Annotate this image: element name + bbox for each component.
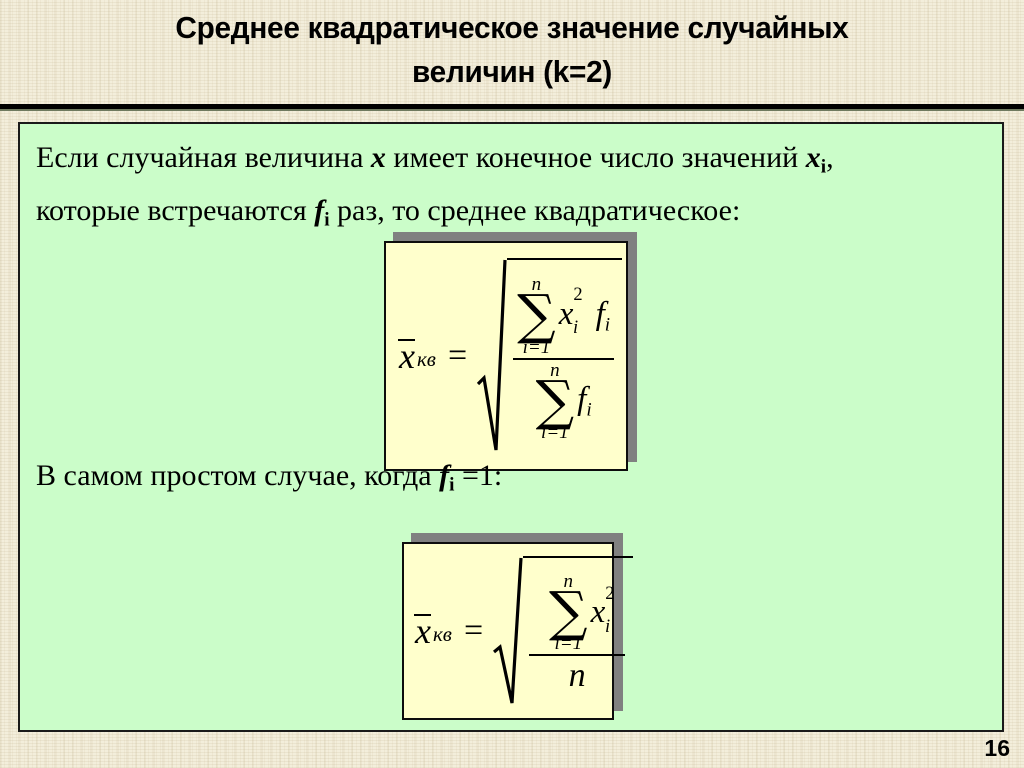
formula-2-lhs-symbol: x xyxy=(415,611,431,651)
intro-text-1: Если случайная величина xyxy=(36,141,371,174)
term-exponent: 2 xyxy=(605,583,614,604)
formula-2-equals-sign: = xyxy=(464,612,483,650)
formula-1-radicand: n ∑ i=1 x2i fi xyxy=(507,258,622,454)
formula-1-den-term: fi xyxy=(577,381,592,422)
formula-1-radical: n ∑ i=1 x2i fi xyxy=(477,258,622,454)
formula-1-xbar: x xyxy=(398,338,416,374)
overline-bar xyxy=(414,614,431,616)
sum-lower-limit: i=1 xyxy=(523,338,551,357)
simple-var-fi-base: f xyxy=(439,459,449,492)
formula-2-equation: x кв = n xyxy=(414,544,633,718)
formula-1-equals-sign: = xyxy=(448,337,467,375)
formula-2-fraction: n ∑ i=1 x2i n xyxy=(529,571,625,696)
summation-operator: n ∑ i=1 xyxy=(517,275,556,356)
term-x-squared: x2i xyxy=(591,594,606,631)
formula-2-denominator: n xyxy=(565,656,590,696)
formula-2-lhs: x кв xyxy=(414,613,452,649)
content-panel: Если случайная величина x имеет конечное… xyxy=(18,122,1004,732)
slide-title-line-2: величин (k=2) xyxy=(20,50,1003,94)
summation-operator: n ∑ i=1 xyxy=(536,361,575,442)
sigma-icon: ∑ xyxy=(517,292,556,338)
summation-operator: n ∑ i=1 xyxy=(549,572,588,653)
sigma-icon: ∑ xyxy=(549,589,588,635)
intro-var-x: x xyxy=(371,141,386,174)
simple-text-1: В самом простом случае, когда xyxy=(36,459,439,492)
slide-title: Среднее квадратическое значение случайны… xyxy=(0,6,1024,104)
formula-2-xbar: x xyxy=(414,613,432,649)
paragraph-simple-case: В самом простом случае, когда fi =1: xyxy=(36,454,502,507)
term-base: x xyxy=(559,296,574,332)
intro-text-5: раз, то среднее квадратическое: xyxy=(330,194,741,227)
formula-2-radical: n ∑ i=1 x2i n xyxy=(493,556,633,706)
term-subscript: i xyxy=(605,616,610,637)
slide-title-line-1: Среднее квадратическое значение случайны… xyxy=(20,6,1003,50)
intro-var-fi: fi xyxy=(314,194,329,227)
title-divider-rule xyxy=(0,104,1024,111)
sum-lower-limit: i=1 xyxy=(554,634,582,653)
formula-2-numerator: n ∑ i=1 x2i xyxy=(545,571,609,654)
page-number: 16 xyxy=(984,735,1010,762)
intro-var-fi-base: f xyxy=(314,194,324,227)
simple-var-fi: fi xyxy=(439,459,454,492)
simple-text-2: =1: xyxy=(454,459,502,492)
intro-var-xi-base: x xyxy=(806,141,821,174)
intro-text-4: которые встречаются xyxy=(36,194,314,227)
paragraph-intro-line-1: Если случайная величина x имеет конечное… xyxy=(36,136,834,189)
formula-1-lhs-subscript: кв xyxy=(417,347,436,374)
formula-1-lhs: x кв xyxy=(398,338,436,374)
term-exponent: 2 xyxy=(573,284,582,305)
radical-sign-icon xyxy=(493,556,523,706)
formula-1-denominator: n ∑ i=1 fi xyxy=(532,360,596,443)
intro-text-3: , xyxy=(826,141,834,174)
paragraph-intro: Если случайная величина x имеет конечное… xyxy=(36,136,834,243)
term-f: f xyxy=(577,381,586,417)
intro-var-xi: xi xyxy=(806,141,826,174)
term-subscript: i xyxy=(573,317,578,338)
formula-2-box: x кв = n xyxy=(402,542,614,720)
formula-2-lhs-subscript: кв xyxy=(433,622,452,649)
formula-1-fraction: n ∑ i=1 x2i fi xyxy=(513,274,614,443)
denominator-n: n xyxy=(569,657,586,695)
radical-sign-icon xyxy=(477,258,507,454)
formula-1-box: x кв = n xyxy=(384,241,628,471)
intro-text-2: имеет конечное число значений xyxy=(386,141,806,174)
sigma-icon: ∑ xyxy=(536,378,575,424)
term-x-squared: x2i xyxy=(559,296,574,333)
formula-2-num-term: x2i xyxy=(591,594,606,631)
sum-lower-limit: i=1 xyxy=(541,423,569,442)
formula-1-equation: x кв = n xyxy=(398,243,622,469)
term-f: f xyxy=(596,296,605,332)
formula-1-numerator: n ∑ i=1 x2i fi xyxy=(513,274,614,357)
formula-1-lhs-symbol: x xyxy=(399,336,415,376)
term-base: x xyxy=(591,594,606,630)
formula-1-num-term: x2i fi xyxy=(559,296,610,337)
overline-bar xyxy=(398,339,415,341)
term-f-subscript: i xyxy=(605,314,610,335)
term-f-subscript: i xyxy=(586,399,591,420)
formula-2-radicand: n ∑ i=1 x2i n xyxy=(523,556,633,706)
